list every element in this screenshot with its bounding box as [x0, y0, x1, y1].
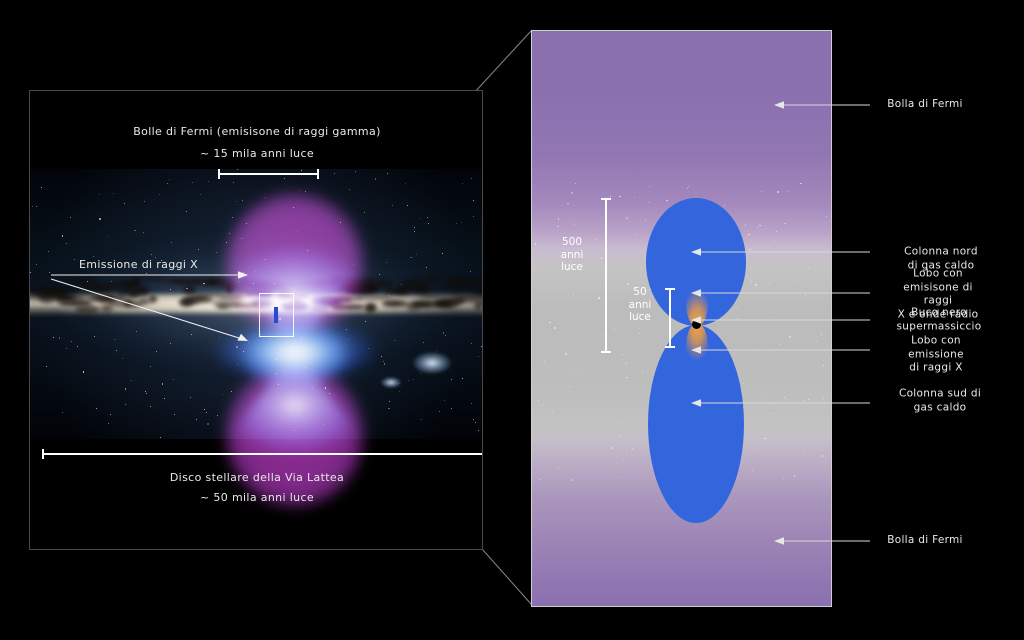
label-supermassive-blackhole: Buco nero supermassiccio [897, 306, 982, 333]
infographic-root: Bolle di Fermi (emisisone di raggi gamma… [0, 0, 1024, 640]
label-fermi-bubble-bottom: Bolla di Fermi [887, 534, 963, 548]
label-fermi-bubble-top: Bolla di Fermi [887, 98, 963, 112]
label-xray-lobe: Lobo con emissione di raggi X [892, 335, 980, 376]
label-south-gas-column: Colonna sud di gas caldo [898, 387, 982, 414]
annotation-leader-lines [0, 0, 1024, 640]
